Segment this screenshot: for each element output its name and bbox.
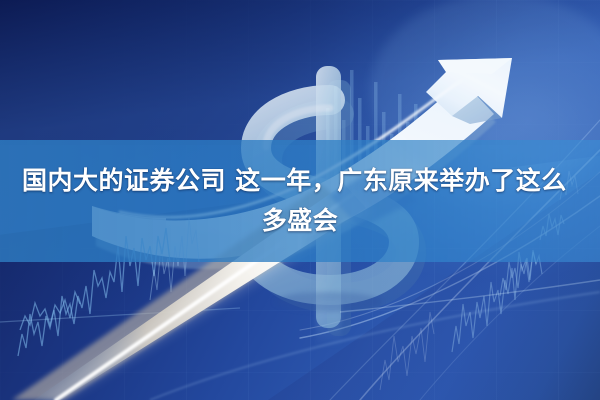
headline-line-1: 国内大的证券公司 这一年，广东原来举办了这么 <box>18 161 567 201</box>
headline-text-block: 国内大的证券公司 这一年，广东原来举办了这么 多盛会 <box>0 140 600 262</box>
financial-banner-image: 国内大的证券公司 这一年，广东原来举办了这么 多盛会 <box>0 0 600 400</box>
headline-line-2: 多盛会 <box>262 201 339 241</box>
